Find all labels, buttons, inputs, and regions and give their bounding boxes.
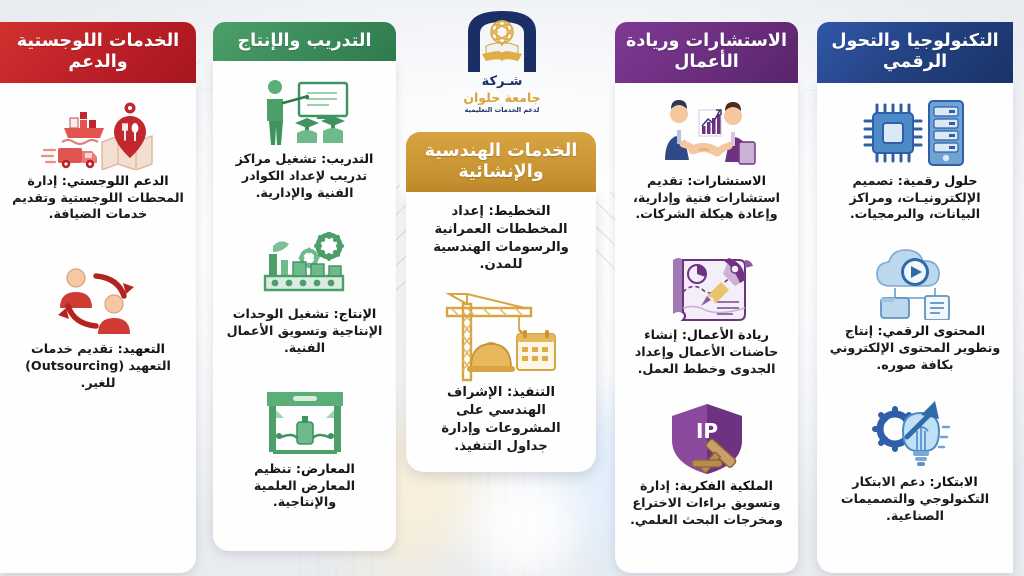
list-item: الابتكار: دعم الابتكار التكنولوجي والتصم… (828, 394, 1002, 527)
handshake-chart-icon (655, 97, 759, 171)
list-item: المعارض: تنظيم المعارض العلمية والإنتاجي… (224, 381, 385, 514)
list-item-term: التعهيد: (118, 341, 165, 356)
list-item: حلول رقمية: تصميم الإلكترونيـات، ومراكز … (828, 93, 1002, 226)
column-engineering: الخدمات الهندسية والإنشائية التخطيط: إعد… (406, 132, 596, 472)
list-item: ريادة الأعمال: إنشاء حاضنات الأعمال وإعد… (626, 247, 787, 380)
list-item-text: حلول رقمية: تصميم الإلكترونيـات، ومراكز … (828, 173, 1002, 226)
list-item-term: الإنتاج: (334, 306, 377, 321)
list-item: المحتوى الرقمي: إنتاج وتطوير المحتوى الإ… (828, 243, 1002, 376)
column-body-engineering: التخطيط: إعداد المخططات العمرانية والرسو… (406, 192, 596, 472)
list-item-text: المعارض: تنظيم المعارض العلمية والإنتاجي… (224, 461, 385, 514)
column-body-consulting: الاستشارات: تقديم استشارات فنية وإدارية،… (615, 83, 798, 573)
list-item: الإنتاج: تشغيل الوحدات الإنتاجية وتسويق … (224, 226, 385, 359)
logo-emblem-icon (452, 6, 552, 74)
list-item: التنفيذ: الإشراف الهندسي على المشروعات و… (418, 286, 584, 457)
list-item: الدعم اللوجستي: إدارة المحطات اللوجستية … (11, 93, 185, 226)
list-item-term: ريادة الأعمال: (682, 327, 769, 342)
list-item-term: المعارض: (296, 461, 355, 476)
column-body-logistics: الدعم اللوجستي: إدارة المحطات اللوجستية … (0, 83, 196, 573)
list-item: التخطيط: إعداد المخططات العمرانية والرسو… (418, 201, 584, 276)
list-item-term: التدريب: (321, 151, 373, 166)
column-consulting: الاستشارات وريادة الأعمال (615, 22, 798, 573)
list-item: IP الملكية الفكرية: إدارة وتسويق براءات … (626, 398, 787, 531)
list-item-text: الابتكار: دعم الابتكار التكنولوجي والتصم… (828, 474, 1002, 527)
list-item: التدريب: تشغيل مراكز تدريب لإعداد الكواد… (224, 71, 385, 204)
column-header-engineering: الخدمات الهندسية والإنشائية (406, 132, 596, 192)
column-header-training: التدريب والإنتاج (213, 22, 396, 61)
rocket-business-plan-icon (659, 251, 755, 325)
list-item-text: ريادة الأعمال: إنشاء حاضنات الأعمال وإعد… (626, 327, 787, 380)
column-title-logistics: الخدمات اللوجستية والدعم (17, 31, 179, 72)
truck-ship-location-icon (40, 97, 156, 171)
column-training: التدريب والإنتاج (213, 22, 396, 551)
list-item-term: المحتوى الرقمي: (877, 323, 985, 338)
lightbulb-gear-growth-icon (867, 398, 963, 472)
logo-line-company: شـركة (452, 74, 552, 89)
column-logistics: الخدمات اللوجستية والدعم (0, 22, 196, 573)
column-body-training: التدريب: تشغيل مراكز تدريب لإعداد الكواد… (213, 61, 396, 551)
outsourcing-people-icon (48, 265, 148, 339)
list-item-term: التخطيط: (489, 204, 551, 219)
list-item-text: التدريب: تشغيل مراكز تدريب لإعداد الكواد… (224, 151, 385, 204)
list-item-text: الملكية الفكرية: إدارة وتسويق براءات الا… (626, 478, 787, 531)
list-item-text: المحتوى الرقمي: إنتاج وتطوير المحتوى الإ… (828, 323, 1002, 376)
column-header-logistics: الخدمات اللوجستية والدعم (0, 22, 196, 83)
chip-server-icon (861, 97, 969, 171)
column-title-consulting: الاستشارات وريادة الأعمال (626, 31, 787, 72)
list-item: الاستشارات: تقديم استشارات فنية وإدارية،… (626, 93, 787, 226)
list-item-term: الدعم اللوجستي: (62, 173, 169, 188)
column-header-consulting: الاستشارات وريادة الأعمال (615, 22, 798, 83)
logo-line-university: جامعة حلوان (452, 90, 552, 105)
list-item-text: التنفيذ: الإشراف الهندسي على المشروعات و… (418, 384, 584, 457)
column-title-engineering: الخدمات الهندسية والإنشائية (425, 141, 578, 182)
list-item-text: الاستشارات: تقديم استشارات فنية وإدارية،… (626, 173, 787, 226)
list-item-text: التعهيد: تقديم خدمات التعهيد (Outsourcin… (11, 341, 185, 394)
factory-gears-icon (253, 230, 357, 304)
column-title-training: التدريب والإنتاج (237, 31, 371, 51)
column-title-technology: التكنولوجيا والتحول الرقمي (831, 31, 998, 72)
list-item-term: الاستشارات: (687, 173, 766, 188)
exhibition-booth-icon (259, 385, 351, 459)
list-item-term: الملكية الفكرية: (674, 478, 773, 493)
crane-helmet-calendar-icon (441, 290, 561, 382)
trainer-whiteboard-icon (257, 75, 353, 149)
column-body-technology: حلول رقمية: تصميم الإلكترونيـات، ومراكز … (817, 83, 1013, 573)
svg-text:IP: IP (695, 419, 717, 443)
list-item-text: الإنتاج: تشغيل الوحدات الإنتاجية وتسويق … (224, 306, 385, 359)
list-item-term: التنفيذ: (507, 385, 555, 400)
logo-line-tagline: لدعم الخدمات التعليمية (452, 106, 552, 114)
list-item-term: حلول رقمية: (898, 173, 978, 188)
company-logo: شـركة جامعة حلوان لدعم الخدمات التعليمية (452, 6, 552, 114)
ip-shield-gavel-icon: IP (664, 402, 750, 476)
column-header-technology: التكنولوجيا والتحول الرقمي (817, 22, 1013, 83)
column-technology: التكنولوجيا والتحول الرقمي (817, 22, 1013, 573)
cloud-media-icon (865, 247, 965, 321)
list-item-term: الابتكار: (929, 474, 977, 489)
list-item-text: الدعم اللوجستي: إدارة المحطات اللوجستية … (11, 173, 185, 226)
services-infographic: الخدمات اللوجستية والدعم (0, 0, 1024, 576)
list-item-text: التخطيط: إعداد المخططات العمرانية والرسو… (418, 203, 584, 276)
list-item: التعهيد: تقديم خدمات التعهيد (Outsourcin… (11, 261, 185, 394)
